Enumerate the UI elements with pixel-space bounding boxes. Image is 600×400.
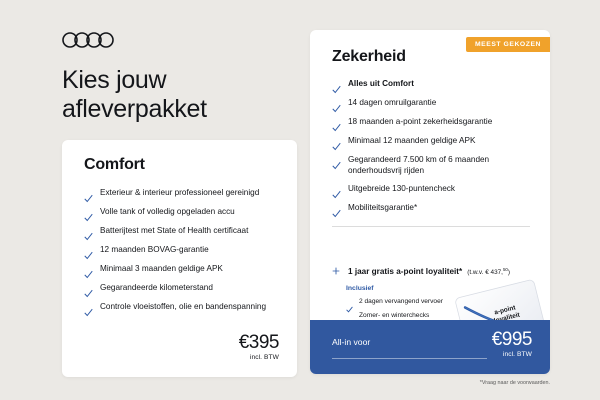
check-icon [84, 228, 93, 237]
check-icon [84, 209, 93, 218]
comfort-title: Comfort [84, 156, 145, 174]
list-item: 18 maanden a-point zekerheidsgarantie [332, 116, 537, 128]
list-item-label: 2 dagen vervangend vervoer [359, 298, 443, 306]
list-item-label: 14 dagen omruilgarantie [348, 97, 436, 108]
list-item: 14 dagen omruilgarantie [332, 97, 537, 109]
comfort-price-note: incl. BTW [239, 354, 279, 361]
list-item: Volle tank of volledig opgeladen accu [84, 206, 284, 218]
list-item: Gegarandeerd 7.500 km of 6 maanden onder… [332, 154, 537, 176]
comfort-price-block: €395 incl. BTW [239, 332, 279, 361]
check-icon [332, 138, 341, 147]
check-icon [346, 300, 353, 307]
comfort-price: €395 [239, 332, 279, 353]
list-item: Controle vloeistoffen, olie en bandenspa… [84, 301, 284, 313]
list-item-label: Gegarandeerde kilometerstand [100, 282, 213, 293]
list-item: Gegarandeerde kilometerstand [84, 282, 284, 294]
check-icon [84, 285, 93, 294]
check-icon [332, 100, 341, 109]
list-item: Minimaal 12 maanden geldige APK [332, 135, 537, 147]
plus-icon [332, 262, 340, 270]
inclusief-heading: Inclusief [346, 285, 374, 292]
list-item: Batterijtest met State of Health certifi… [84, 225, 284, 237]
check-icon [84, 304, 93, 313]
promo-banner: Kies jouw afleverpakket Comfort Exterieu… [0, 0, 600, 400]
list-item: Alles uit Comfort [332, 78, 537, 90]
list-item-label: Zomer- en winterchecks [359, 312, 429, 320]
list-item: Minimaal 3 maanden geldige APK [84, 263, 284, 275]
list-item-label: Controle vloeistoffen, olie en bandenspa… [100, 301, 266, 312]
list-item-label: 18 maanden a-point zekerheidsgarantie [348, 116, 492, 127]
list-item-label: Batterijtest met State of Health certifi… [100, 225, 248, 236]
check-icon [84, 247, 93, 256]
list-item: Uitgebreide 130-puntencheck [332, 183, 537, 195]
list-item-label: Volle tank of volledig opgeladen accu [100, 206, 235, 217]
check-icon [84, 266, 93, 275]
list-item-label: Gegarandeerd 7.500 km of 6 maanden onder… [348, 154, 537, 176]
comfort-package-card[interactable]: Comfort Exterieur & interieur profession… [62, 140, 297, 377]
zekerheid-feature-list: Alles uit Comfort 14 dagen omruilgaranti… [332, 78, 537, 221]
check-icon [332, 157, 341, 166]
loyalty-addon-label: 1 jaar gratis a-point loyaliteit* [348, 267, 462, 276]
check-icon [332, 119, 341, 128]
list-item-label: 12 maanden BOVAG-garantie [100, 244, 209, 255]
list-item-label: Mobiliteitsgarantie* [348, 202, 417, 213]
list-item: 12 maanden BOVAG-garantie [84, 244, 284, 256]
footnote: *Vraag naar de voorwaarden. [480, 380, 550, 386]
divider [332, 358, 487, 359]
divider [332, 226, 530, 227]
zekerheid-price-block: €995 incl. BTW [492, 329, 532, 358]
list-item: Mobiliteitsgarantie* [332, 202, 537, 214]
check-icon [332, 186, 341, 195]
list-item-label: Minimaal 3 maanden geldige APK [100, 263, 223, 274]
left-column: Kies jouw afleverpakket Comfort Exterieu… [0, 0, 310, 400]
allin-price-bar: All-in voor €995 incl. BTW [310, 320, 550, 374]
loyalty-addon-value: (t.w.v. € 437,50) [467, 267, 510, 276]
check-icon [332, 81, 341, 90]
loyalty-addon-row[interactable]: 1 jaar gratis a-point loyaliteit* (t.w.v… [332, 261, 510, 276]
list-item-label: Minimaal 12 maanden geldige APK [348, 135, 475, 146]
page-title: Kies jouw afleverpakket [62, 66, 292, 124]
check-icon [84, 190, 93, 199]
zekerheid-price-note: incl. BTW [492, 351, 532, 358]
zekerheid-price: €995 [492, 329, 532, 350]
list-item-label: Exterieur & interieur professioneel gere… [100, 187, 259, 198]
allin-label: All-in voor [332, 337, 370, 347]
audi-rings-logo [62, 31, 122, 49]
zekerheid-package-card[interactable]: MEEST GEKOZEN Zekerheid Alles uit Comfor… [310, 30, 550, 374]
check-icon [332, 205, 341, 214]
list-item-label: Alles uit Comfort [348, 78, 414, 89]
zekerheid-title: Zekerheid [332, 48, 406, 66]
list-item: Exterieur & interieur professioneel gere… [84, 187, 284, 199]
status-badge: MEEST GEKOZEN [466, 37, 550, 52]
comfort-feature-list: Exterieur & interieur professioneel gere… [84, 187, 284, 320]
list-item-label: Uitgebreide 130-puntencheck [348, 183, 455, 194]
